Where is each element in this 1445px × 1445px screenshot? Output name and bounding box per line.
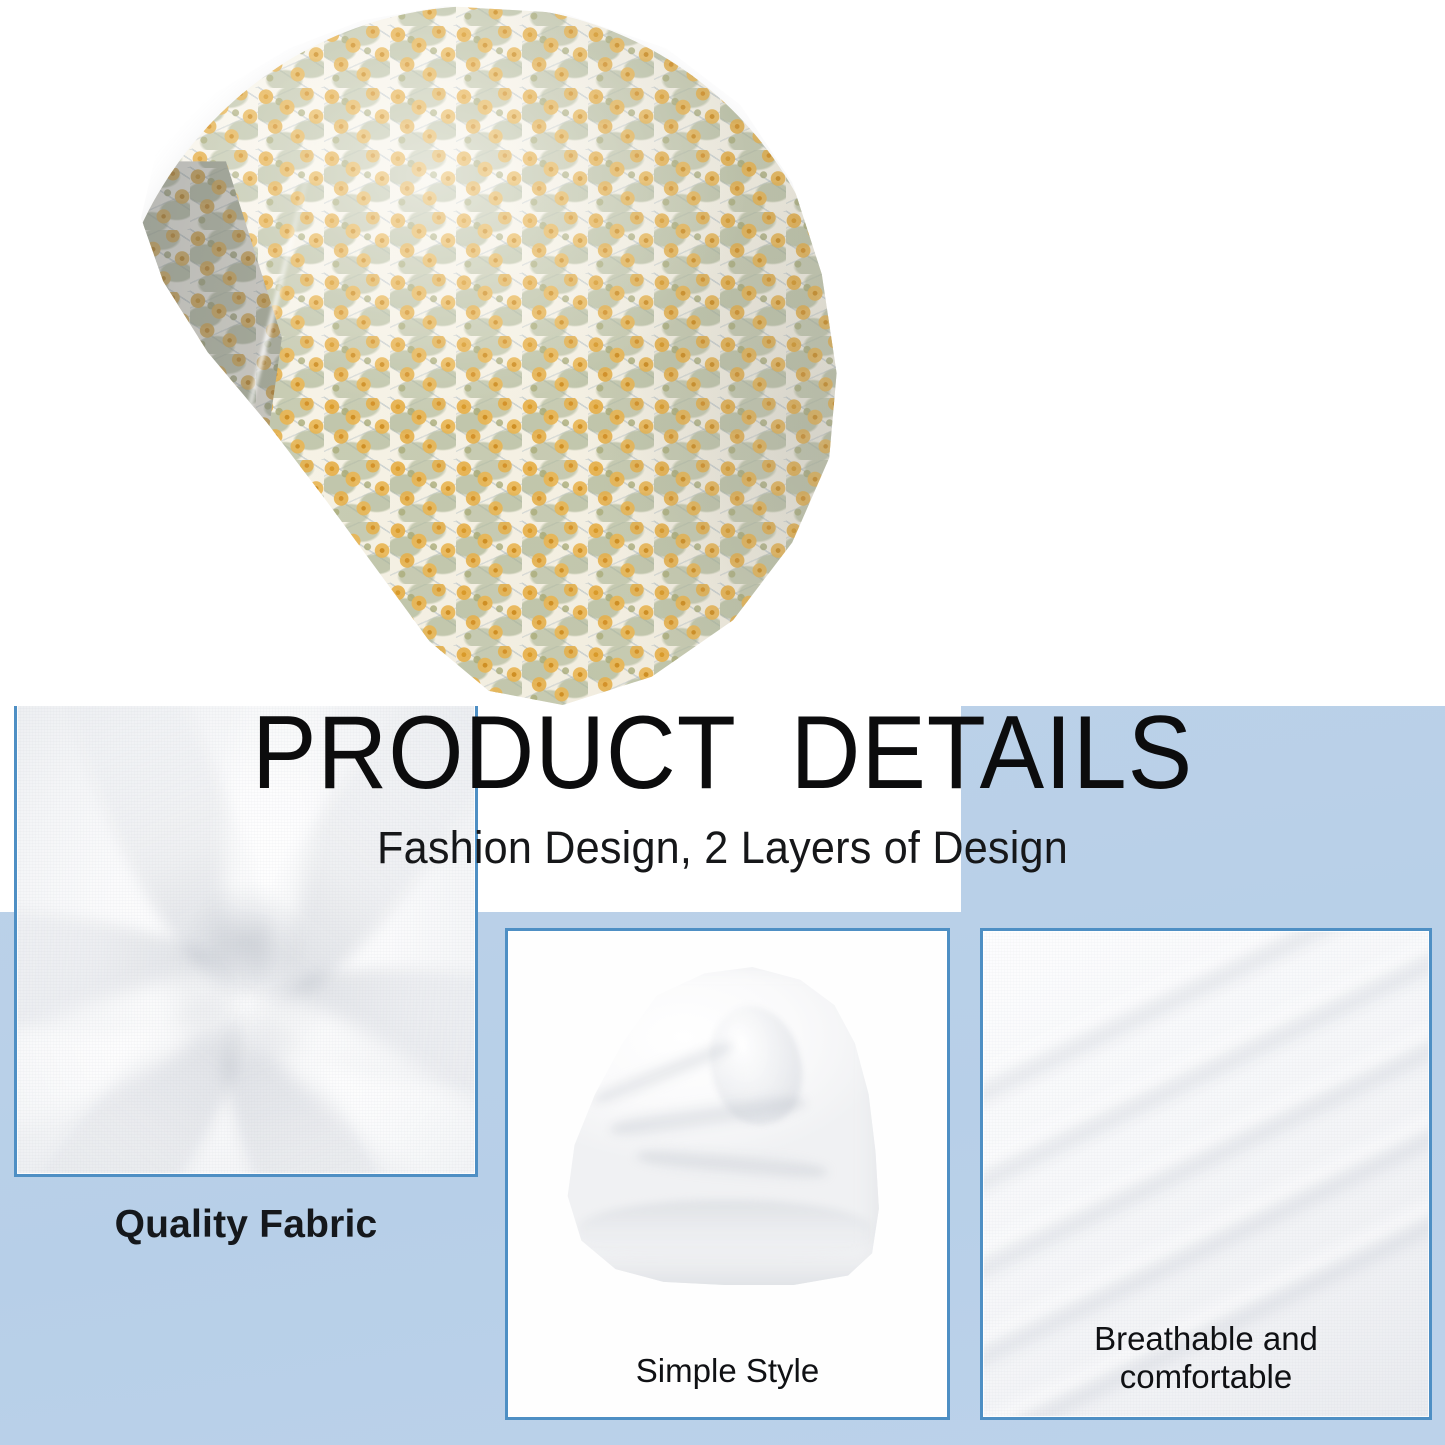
- simple-style-image: [508, 931, 947, 1417]
- page-title: PRODUCT DETAILS: [51, 700, 1395, 806]
- floral-beanie: [104, 6, 844, 706]
- hero-product-image: [0, 0, 1445, 706]
- hero-title-block: PRODUCT DETAILS Fashion Design, 2 Layers…: [0, 700, 1445, 874]
- breathable-comfortable-panel: Breathable and comfortable: [980, 928, 1432, 1420]
- beanie-body: [104, 6, 844, 706]
- beanie-brim: [578, 1200, 872, 1260]
- beanie-silhouette: [554, 967, 896, 1285]
- quality-fabric-caption: Quality Fabric: [14, 1203, 478, 1247]
- breathable-comfortable-caption: Breathable and comfortable: [983, 1320, 1429, 1395]
- simple-style-panel: Simple Style: [505, 928, 950, 1420]
- breathable-caption-line-1: Breathable and: [983, 1320, 1429, 1357]
- hero-product-panel: PRODUCT DETAILS Fashion Design, 2 Layers…: [0, 0, 961, 912]
- page-subtitle: Fashion Design, 2 Layers of Design: [29, 822, 1416, 874]
- infographic-root: Capping Design: [0, 0, 1445, 1445]
- plain-white-beanie: [554, 967, 896, 1285]
- breathable-caption-line-2: comfortable: [983, 1358, 1429, 1395]
- beanie-fold: [608, 1087, 809, 1144]
- simple-style-caption: Simple Style: [508, 1352, 947, 1389]
- beanie-fold: [635, 1143, 828, 1186]
